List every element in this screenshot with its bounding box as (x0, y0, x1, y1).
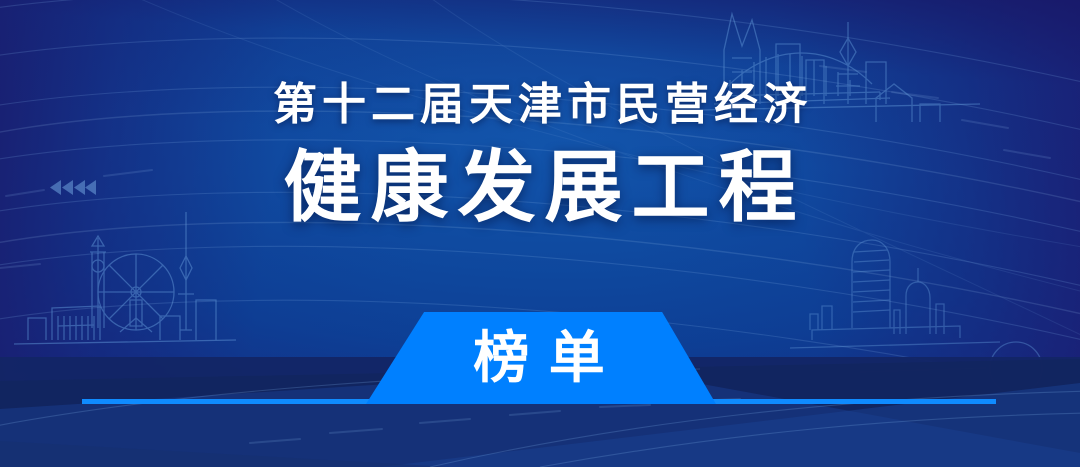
ribbon-label: 榜 单 (0, 321, 1080, 395)
ribbon-banner: 榜 单 (0, 312, 1080, 404)
banner-root: 第十二届天津市民营经济 健康发展工程 榜 单 (0, 0, 1080, 467)
page-title-line-2: 健康发展工程 (0, 140, 1080, 234)
headline-block: 第十二届天津市民营经济 健康发展工程 (0, 76, 1080, 234)
page-title-line-1: 第十二届天津市民营经济 (0, 76, 1080, 134)
